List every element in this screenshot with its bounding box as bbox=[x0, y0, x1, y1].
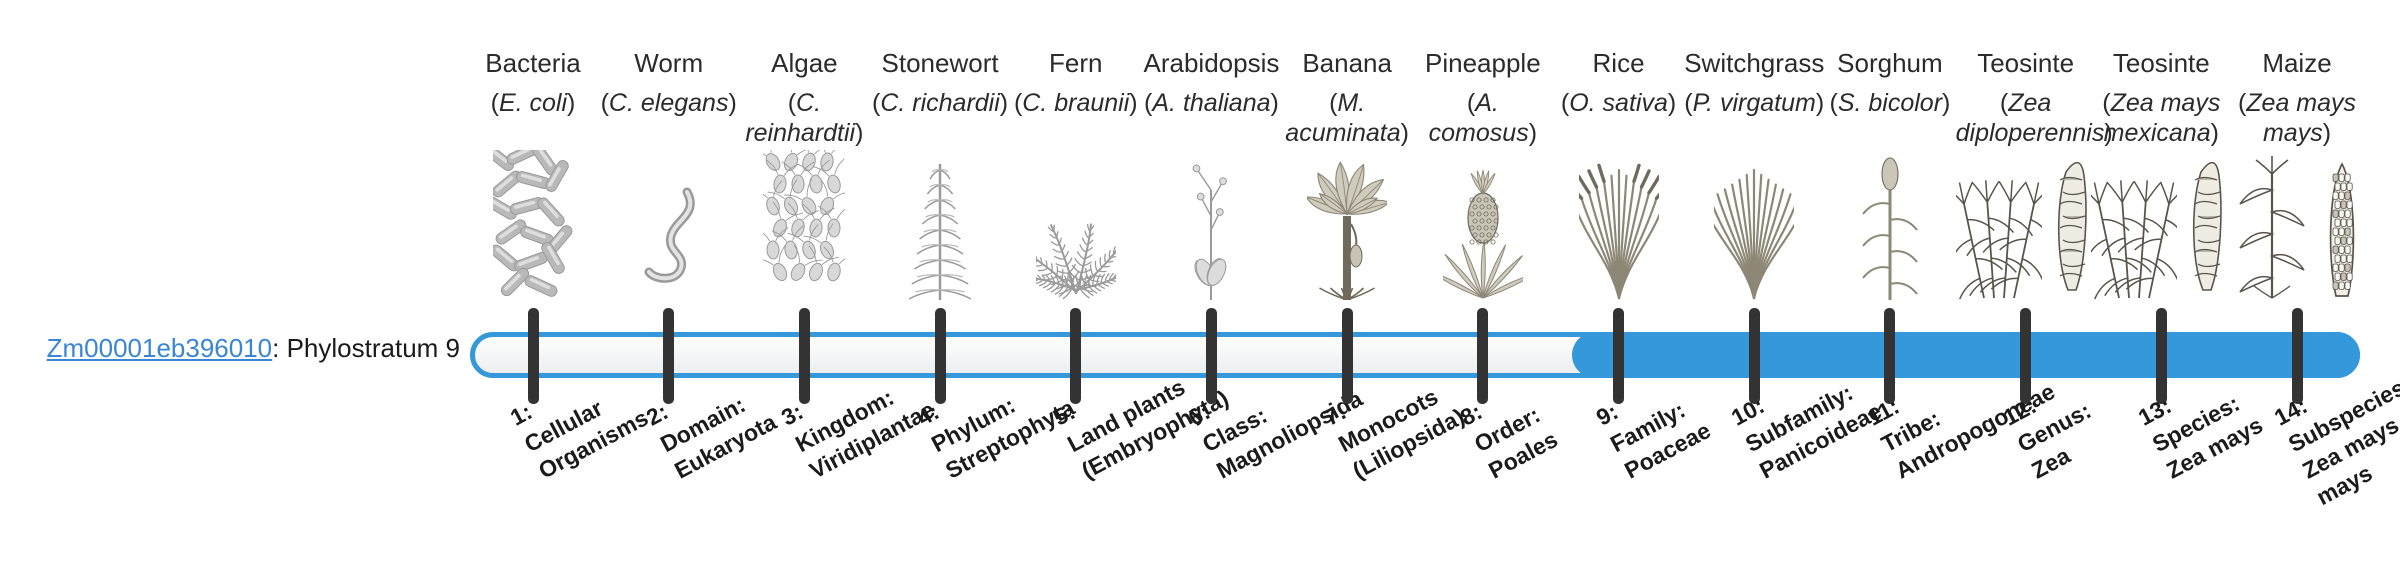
species-header-switchgrass: Switchgrass(P. virgatum) bbox=[1684, 48, 1824, 118]
teosinte-mexicana-icon bbox=[2091, 170, 2231, 300]
species-scientific-name: (O. sativa) bbox=[1549, 88, 1689, 118]
rank-label-9: 9: Family: Poaceae bbox=[1591, 362, 1716, 485]
species-common-name: Pineapple bbox=[1413, 48, 1553, 78]
switchgrass-icon bbox=[1684, 170, 1824, 300]
pineapple-icon bbox=[1413, 170, 1553, 300]
species-common-name: Rice bbox=[1549, 48, 1689, 78]
species-scientific-name: (C. braunii) bbox=[1006, 88, 1146, 118]
species-scientific-name: (Zea mays mays) bbox=[2227, 88, 2367, 148]
species-scientific-name: (C. richardii) bbox=[870, 88, 1010, 118]
arabidopsis-icon bbox=[1141, 170, 1281, 300]
species-scientific-name: (E. coli) bbox=[463, 88, 603, 118]
species-scientific-name: (S. bicolor) bbox=[1820, 88, 1960, 118]
species-scientific-name: (Zea diploperennis) bbox=[1956, 88, 2096, 148]
species-header-stonewort: Stonewort(C. richardii) bbox=[870, 48, 1010, 118]
species-header-teosinte: Teosinte(Zea diploperennis) bbox=[1956, 48, 2096, 148]
species-scientific-name: (C. reinhardtii) bbox=[734, 88, 874, 148]
nematode-icon bbox=[599, 170, 739, 300]
ecoli-rods-icon bbox=[463, 170, 603, 300]
species-common-name: Bacteria bbox=[463, 48, 603, 78]
species-common-name: Teosinte bbox=[2091, 48, 2231, 78]
species-header-fern: Fern(C. braunii) bbox=[1006, 48, 1146, 118]
fern-icon bbox=[1006, 170, 1146, 300]
species-header-arabidopsis: Arabidopsis(A. thaliana) bbox=[1141, 48, 1281, 118]
species-header-bacteria: Bacteria(E. coli) bbox=[463, 48, 603, 118]
species-header-pineapple: Pineapple(A. comosus) bbox=[1413, 48, 1553, 148]
gene-phylostratum-label: Zm00001eb396010: Phylostratum 9 bbox=[0, 333, 460, 364]
species-header-rice: Rice(O. sativa) bbox=[1549, 48, 1689, 118]
species-header-sorghum: Sorghum(S. bicolor) bbox=[1820, 48, 1960, 118]
species-header-worm: Worm(C. elegans) bbox=[599, 48, 739, 118]
phylostratum-diagram: Zm00001eb396010: Phylostratum 9 Bacteria… bbox=[0, 0, 2400, 580]
species-scientific-name: (M. acuminata) bbox=[1277, 88, 1417, 148]
species-scientific-name: (A. comosus) bbox=[1413, 88, 1553, 148]
species-common-name: Maize bbox=[2227, 48, 2367, 78]
species-header-algae: Algae(C. reinhardtii) bbox=[734, 48, 874, 148]
gene-id-link[interactable]: Zm00001eb396010 bbox=[47, 333, 273, 363]
species-header-maize: Maize(Zea mays mays) bbox=[2227, 48, 2367, 148]
chlamydomonas-icon bbox=[734, 170, 874, 300]
species-common-name: Algae bbox=[734, 48, 874, 78]
phylostratum-text: Phylostratum 9 bbox=[287, 333, 460, 363]
species-common-name: Stonewort bbox=[870, 48, 1010, 78]
species-common-name: Arabidopsis bbox=[1141, 48, 1281, 78]
species-scientific-name: (Zea mays mexicana) bbox=[2091, 88, 2231, 148]
species-header-banana: Banana(M. acuminata) bbox=[1277, 48, 1417, 148]
species-common-name: Worm bbox=[599, 48, 739, 78]
maize-icon bbox=[2227, 170, 2367, 300]
species-common-name: Sorghum bbox=[1820, 48, 1960, 78]
species-common-name: Fern bbox=[1006, 48, 1146, 78]
stonewort-icon bbox=[870, 170, 1010, 300]
species-scientific-name: (P. virgatum) bbox=[1684, 88, 1824, 118]
species-common-name: Switchgrass bbox=[1684, 48, 1824, 78]
banana-plant-icon bbox=[1277, 170, 1417, 300]
gene-label-separator: : bbox=[272, 333, 286, 363]
species-header-teosinte: Teosinte(Zea mays mexicana) bbox=[2091, 48, 2231, 148]
rice-plant-icon bbox=[1549, 170, 1689, 300]
sorghum-icon bbox=[1820, 170, 1960, 300]
species-scientific-name: (C. elegans) bbox=[599, 88, 739, 118]
species-scientific-name: (A. thaliana) bbox=[1141, 88, 1281, 118]
rank-label-8: 8: Order: Poales bbox=[1455, 371, 1563, 485]
species-common-name: Teosinte bbox=[1956, 48, 2096, 78]
teosinte-diploperennis-icon bbox=[1956, 170, 2096, 300]
species-common-name: Banana bbox=[1277, 48, 1417, 78]
